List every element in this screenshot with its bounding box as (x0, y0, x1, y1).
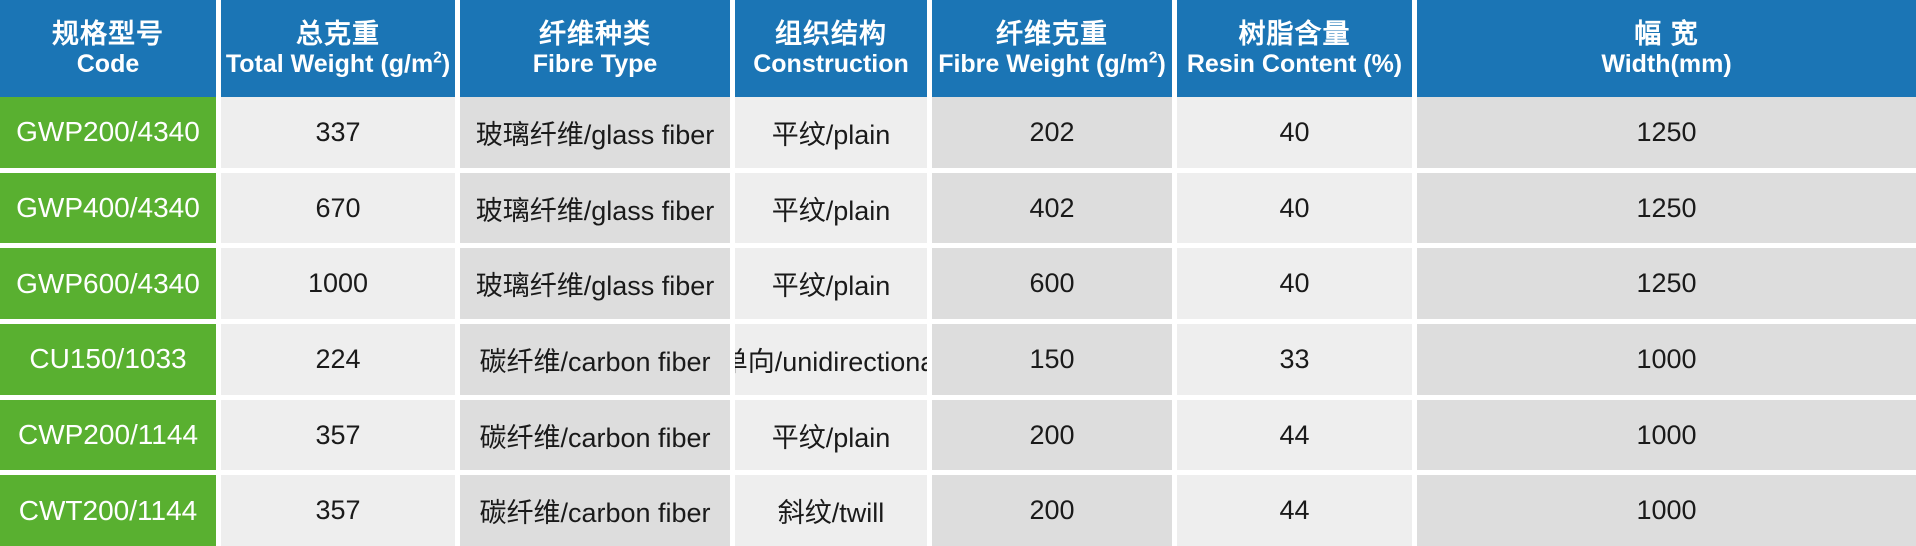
table-header-row: 规格型号 Code 总克重 Total Weight (g/m2) 纤维种类 F… (0, 0, 1916, 97)
cell-fibre-weight: 202 (932, 97, 1172, 168)
cell-resin-content: 40 (1177, 97, 1412, 168)
cell-code: CWT200/1144 (0, 475, 216, 546)
cell-fibre-weight: 150 (932, 324, 1172, 395)
column-header-width: 幅 宽 Width(mm) (1417, 0, 1916, 97)
cell-width: 1250 (1417, 173, 1916, 244)
column-header-code-cn: 规格型号 (52, 19, 164, 49)
cell-width: 1000 (1417, 324, 1916, 395)
table-row: GWP400/4340 670 玻璃纤维/glass fiber 平纹/plai… (0, 173, 1916, 244)
cell-fibre-type: 玻璃纤维/glass fiber (460, 248, 730, 319)
cell-fibre-type: 玻璃纤维/glass fiber (460, 173, 730, 244)
cell-fibre-weight: 200 (932, 475, 1172, 546)
column-header-construction: 组织结构 Construction (735, 0, 927, 97)
column-header-total-weight-en: Total Weight (g/m2) (226, 50, 450, 78)
cell-total-weight: 357 (221, 475, 455, 546)
table-row: CWT200/1144 357 碳纤维/carbon fiber 斜纹/twil… (0, 475, 1916, 546)
cell-resin-content: 40 (1177, 248, 1412, 319)
column-header-code: 规格型号 Code (0, 0, 216, 97)
cell-total-weight: 224 (221, 324, 455, 395)
product-specification-table: 规格型号 Code 总克重 Total Weight (g/m2) 纤维种类 F… (0, 0, 1916, 546)
cell-construction: 单向/unidirectional (735, 324, 927, 395)
column-header-code-en: Code (77, 50, 140, 78)
cell-fibre-weight: 402 (932, 173, 1172, 244)
cell-total-weight: 337 (221, 97, 455, 168)
cell-total-weight: 670 (221, 173, 455, 244)
table-row: GWP200/4340 337 玻璃纤维/glass fiber 平纹/plai… (0, 97, 1916, 168)
cell-resin-content: 44 (1177, 400, 1412, 471)
column-header-fibre-weight-cn: 纤维克重 (996, 19, 1108, 49)
cell-code: GWP600/4340 (0, 248, 216, 319)
cell-code: CU150/1033 (0, 324, 216, 395)
column-header-width-en: Width(mm) (1601, 50, 1731, 78)
cell-width: 1250 (1417, 248, 1916, 319)
cell-resin-content: 44 (1177, 475, 1412, 546)
column-header-fibre-type: 纤维种类 Fibre Type (460, 0, 730, 97)
table-row: GWP600/4340 1000 玻璃纤维/glass fiber 平纹/pla… (0, 248, 1916, 319)
table-row: CU150/1033 224 碳纤维/carbon fiber 单向/unidi… (0, 324, 1916, 395)
cell-total-weight: 357 (221, 400, 455, 471)
column-header-fibre-weight-en: Fibre Weight (g/m2) (938, 50, 1166, 78)
cell-fibre-type: 碳纤维/carbon fiber (460, 400, 730, 471)
cell-construction: 平纹/plain (735, 173, 927, 244)
cell-width: 1250 (1417, 97, 1916, 168)
cell-construction: 平纹/plain (735, 248, 927, 319)
column-header-resin-content: 树脂含量 Resin Content (%) (1177, 0, 1412, 97)
cell-fibre-weight: 200 (932, 400, 1172, 471)
cell-code: GWP400/4340 (0, 173, 216, 244)
cell-width: 1000 (1417, 400, 1916, 471)
column-header-width-cn: 幅 宽 (1634, 19, 1699, 49)
cell-total-weight: 1000 (221, 248, 455, 319)
cell-fibre-type: 玻璃纤维/glass fiber (460, 97, 730, 168)
column-header-construction-cn: 组织结构 (775, 19, 887, 49)
cell-construction: 平纹/plain (735, 400, 927, 471)
cell-construction: 斜纹/twill (735, 475, 927, 546)
cell-fibre-weight: 600 (932, 248, 1172, 319)
table-body: GWP200/4340 337 玻璃纤维/glass fiber 平纹/plai… (0, 97, 1916, 546)
column-header-total-weight: 总克重 Total Weight (g/m2) (221, 0, 455, 97)
cell-construction: 平纹/plain (735, 97, 927, 168)
cell-code: GWP200/4340 (0, 97, 216, 168)
column-header-total-weight-cn: 总克重 (296, 19, 380, 49)
column-header-resin-content-cn: 树脂含量 (1239, 19, 1351, 49)
column-header-fibre-type-cn: 纤维种类 (539, 19, 651, 49)
column-header-fibre-weight: 纤维克重 Fibre Weight (g/m2) (932, 0, 1172, 97)
cell-resin-content: 40 (1177, 173, 1412, 244)
column-header-fibre-type-en: Fibre Type (533, 50, 658, 78)
table-row: CWP200/1144 357 碳纤维/carbon fiber 平纹/plai… (0, 400, 1916, 471)
cell-code: CWP200/1144 (0, 400, 216, 471)
cell-fibre-type: 碳纤维/carbon fiber (460, 324, 730, 395)
column-header-construction-en: Construction (753, 50, 909, 78)
cell-fibre-type: 碳纤维/carbon fiber (460, 475, 730, 546)
cell-resin-content: 33 (1177, 324, 1412, 395)
cell-width: 1000 (1417, 475, 1916, 546)
column-header-resin-content-en: Resin Content (%) (1187, 50, 1402, 78)
